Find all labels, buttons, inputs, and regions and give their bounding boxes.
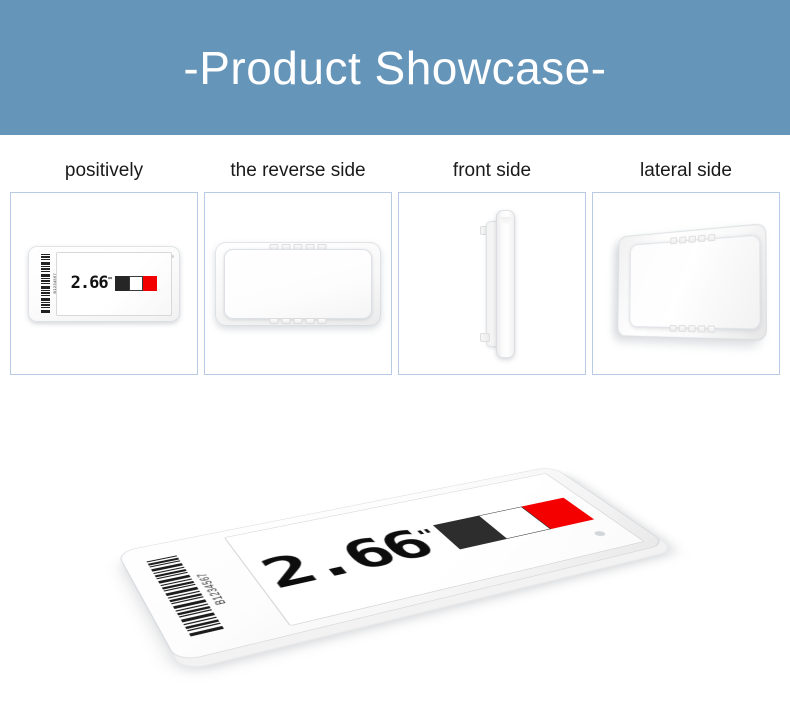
barcode-icon <box>41 254 50 314</box>
card-stage-front <box>399 193 585 374</box>
card-label-positively: positively <box>65 135 143 192</box>
hero-screen-size-value: 2.66 <box>255 528 439 592</box>
card-frame-front <box>398 192 586 375</box>
clip-notch <box>306 318 315 324</box>
hero-product-section: B1234567 2.66 " <box>0 381 790 726</box>
barcode-icon <box>146 555 225 638</box>
card-frame-lateral <box>592 192 780 375</box>
clip-notch <box>318 318 327 324</box>
product-views-section: positively B1234567 2.66 " <box>0 135 790 375</box>
color-swatch-black <box>115 276 129 291</box>
hero-barcode-strip: B1234567 <box>134 539 279 650</box>
clip-notch <box>282 318 291 324</box>
back-plate <box>224 249 372 319</box>
clip-notch <box>294 318 303 324</box>
product-view-card-lateral: lateral side <box>592 135 780 375</box>
hero-stage: B1234567 2.66 " <box>115 404 675 704</box>
esl-tag-front-view: B1234567 2.66 " <box>28 246 180 322</box>
hero-barcode-label: B1234567 <box>194 571 229 605</box>
clip-notch <box>270 318 279 324</box>
screen-size-unit: " <box>108 276 113 285</box>
clip-notches-bottom <box>270 318 327 324</box>
product-views-row: positively B1234567 2.66 " <box>0 135 790 375</box>
color-swatch-red <box>143 276 157 291</box>
color-swatch-group <box>115 276 157 291</box>
product-view-card-positively: positively B1234567 2.66 " <box>10 135 198 375</box>
hero-epaper-display: 2.66 " <box>224 473 645 626</box>
esl-tag-perspective-view <box>617 223 766 341</box>
epaper-content: 2.66 " <box>71 275 158 292</box>
edge-clip-bottom <box>480 333 490 342</box>
esl-tag-edge-view <box>467 210 517 358</box>
card-stage-positively: B1234567 2.66 " <box>11 193 197 374</box>
hero-epaper-content: 2.66 " <box>255 496 596 592</box>
product-view-card-reverse: the reverse side <box>204 135 392 375</box>
perspective-back-plate <box>629 234 760 329</box>
clip-notch <box>708 233 715 241</box>
color-swatch-white <box>129 276 143 291</box>
product-view-card-front: front side <box>398 135 586 375</box>
page-title: -Product Showcase- <box>183 45 606 91</box>
card-stage-reverse <box>205 193 391 374</box>
epaper-display: 2.66 " <box>56 252 172 316</box>
card-frame-positively: B1234567 2.66 " <box>10 192 198 375</box>
card-stage-lateral <box>593 193 779 374</box>
card-frame-reverse <box>204 192 392 375</box>
hero-led-indicator-icon <box>594 530 606 535</box>
hero-device-face: B1234567 2.66 " <box>116 466 667 662</box>
hero-color-swatch-group <box>433 497 594 549</box>
esl-tag-back-view <box>215 242 381 326</box>
card-label-reverse: the reverse side <box>230 135 365 192</box>
card-label-lateral: lateral side <box>640 135 732 192</box>
barcode-strip: B1234567 <box>34 252 56 316</box>
edge-front-slab <box>496 210 515 358</box>
esl-tag-hero-view: B1234567 2.66 " <box>116 466 667 662</box>
card-label-front: front side <box>453 135 531 192</box>
screen-size-value: 2.66 <box>71 275 108 292</box>
header-banner: -Product Showcase- <box>0 0 790 135</box>
